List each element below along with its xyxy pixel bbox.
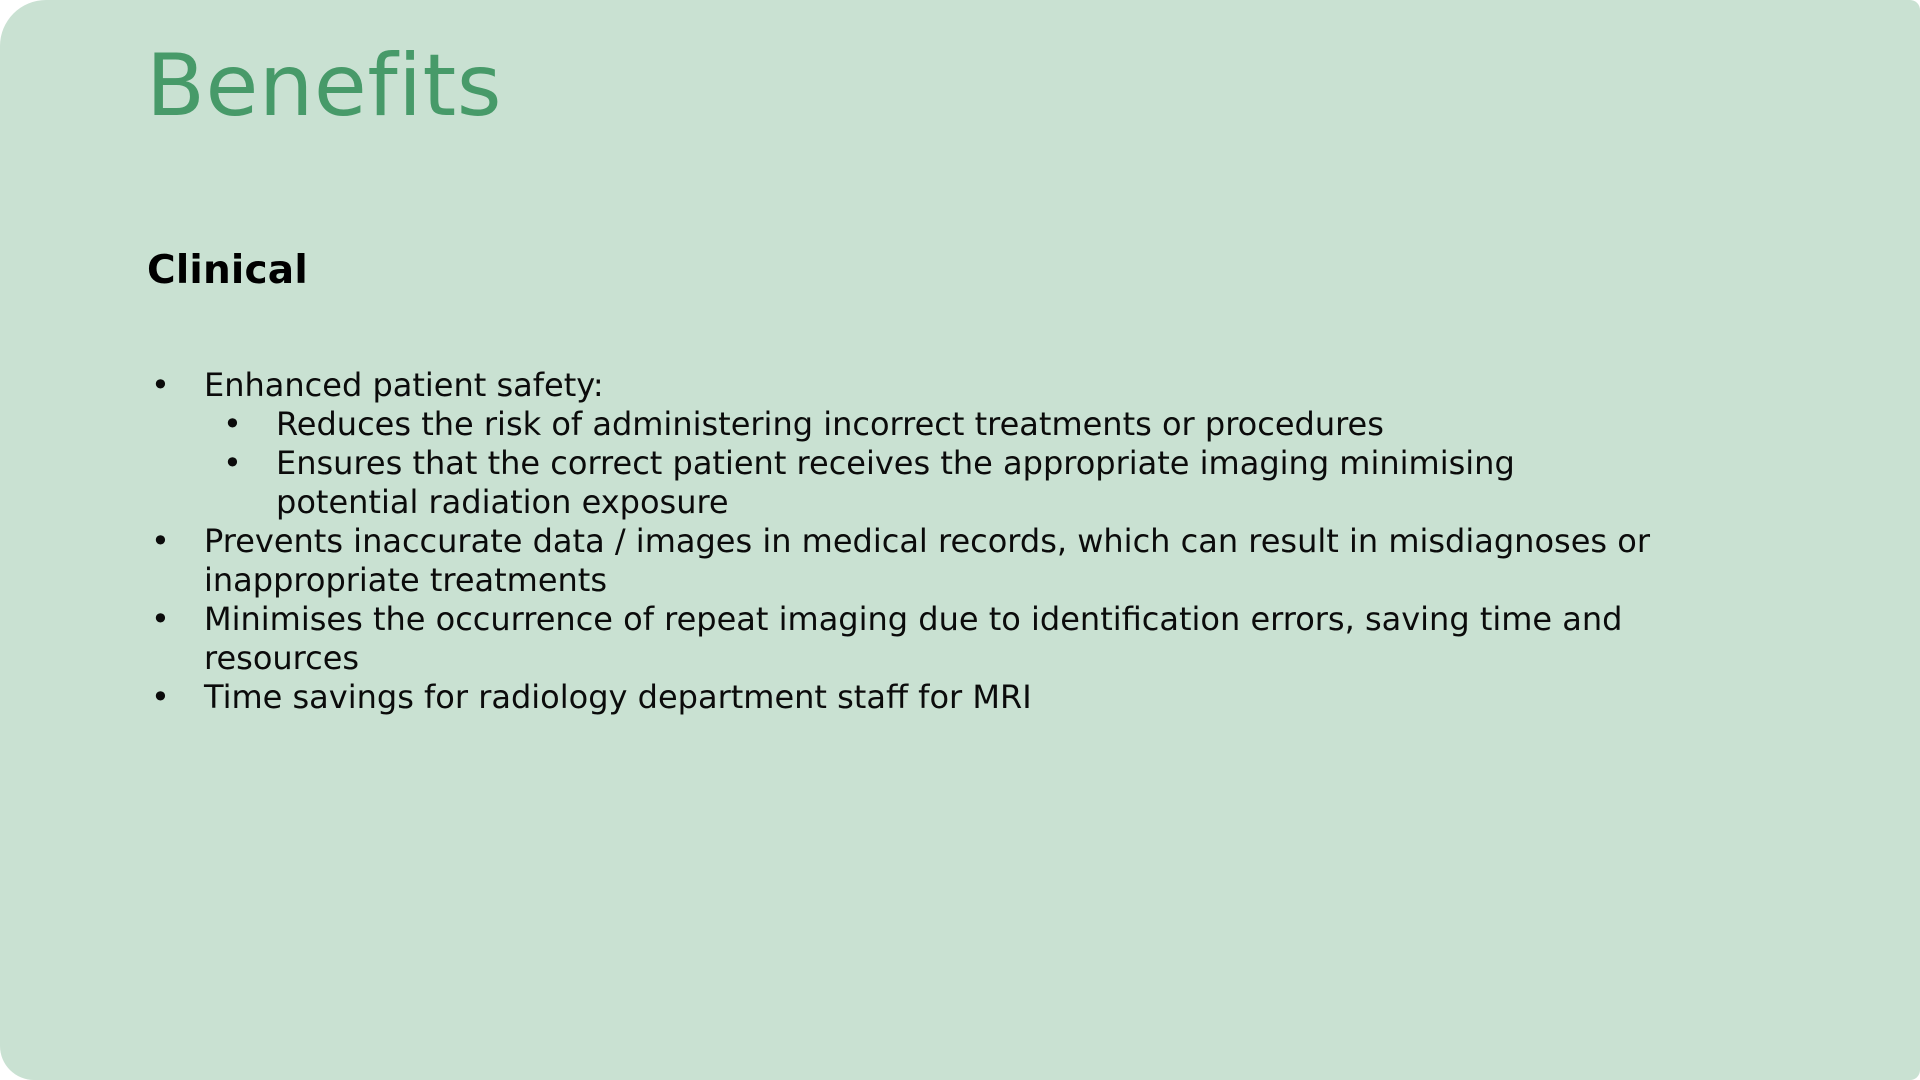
section-heading-clinical: Clinical — [147, 248, 308, 294]
bullet-point-icon: • — [147, 600, 204, 639]
list-item-text: Reduces the risk of administering incorr… — [276, 405, 1692, 444]
list-item: • Prevents inaccurate data / images in m… — [147, 522, 1692, 600]
bullet-point-icon: • — [220, 405, 276, 444]
list-item-text: Enhanced patient safety: — [204, 366, 1692, 405]
list-item-text: Time savings for radiology department st… — [204, 678, 1692, 717]
list-item: • Ensures that the correct patient recei… — [147, 444, 1692, 522]
list-item-text: Ensures that the correct patient receive… — [276, 444, 1692, 522]
list-item: • Minimises the occurrence of repeat ima… — [147, 600, 1692, 678]
bullet-point-icon: • — [220, 444, 276, 483]
benefits-bullet-list: • Enhanced patient safety: • Reduces the… — [147, 366, 1692, 717]
list-item-text: Prevents inaccurate data / images in med… — [204, 522, 1692, 600]
page-title: Benefits — [146, 38, 502, 134]
list-item: • Time savings for radiology department … — [147, 678, 1692, 717]
slide-canvas: Benefits Clinical • Enhanced patient saf… — [0, 0, 1920, 1080]
list-item-text: Minimises the occurrence of repeat imagi… — [204, 600, 1692, 678]
bullet-point-icon: • — [147, 366, 204, 405]
bullet-point-icon: • — [147, 678, 204, 717]
list-item: • Enhanced patient safety: — [147, 366, 1692, 405]
bullet-point-icon: • — [147, 522, 204, 561]
list-item: • Reduces the risk of administering inco… — [147, 405, 1692, 444]
